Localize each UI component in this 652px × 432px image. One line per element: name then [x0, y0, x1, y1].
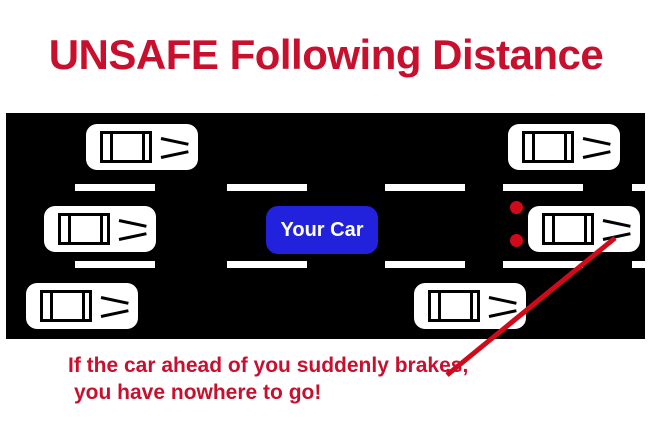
lane-dash — [385, 261, 465, 268]
your-car-label: Your Car — [281, 219, 364, 242]
upper-lane-divider — [6, 184, 645, 191]
car-pillar-left — [68, 215, 71, 243]
lane-dash — [227, 261, 307, 268]
lane-dash — [385, 184, 465, 191]
lane-dash — [75, 184, 155, 191]
car-pillar-left — [552, 215, 555, 243]
car-top-right — [508, 124, 620, 170]
brake-indicator-dot-lower — [510, 234, 523, 247]
car-pillar-right — [564, 133, 567, 161]
car-pillar-right — [142, 133, 145, 161]
lane-dash — [632, 261, 645, 268]
car-pillar-left — [110, 133, 113, 161]
car-middle-right — [528, 206, 640, 252]
lane-dash — [503, 184, 583, 191]
caption-line-1: If the car ahead of you suddenly brakes, — [68, 354, 468, 377]
lower-lane-divider — [6, 261, 645, 268]
car-pillar-left — [50, 292, 53, 320]
lane-dash — [503, 261, 583, 268]
car-top-left — [86, 124, 198, 170]
car-pillar-left — [438, 292, 441, 320]
car-pillar-left — [532, 133, 535, 161]
diagram-canvas: UNSAFE Following Distance — [0, 0, 652, 432]
caption-line-2: you have nowhere to go! — [68, 379, 468, 406]
road-surface: Your Car — [6, 113, 645, 339]
caption-text: If the car ahead of you suddenly brakes,… — [68, 352, 468, 406]
page-title: UNSAFE Following Distance — [0, 30, 652, 80]
lane-dash — [75, 261, 155, 268]
car-bottom-right — [414, 283, 526, 329]
your-car-badge: Your Car — [266, 206, 378, 254]
car-pillar-right — [82, 292, 85, 320]
car-pillar-right — [100, 215, 103, 243]
brake-indicator-dot-upper — [510, 201, 523, 214]
car-pillar-right — [470, 292, 473, 320]
lane-dash — [632, 184, 645, 191]
car-bottom-left — [26, 283, 138, 329]
car-pillar-right — [584, 215, 587, 243]
lane-dash — [227, 184, 307, 191]
car-middle-left — [44, 206, 156, 252]
